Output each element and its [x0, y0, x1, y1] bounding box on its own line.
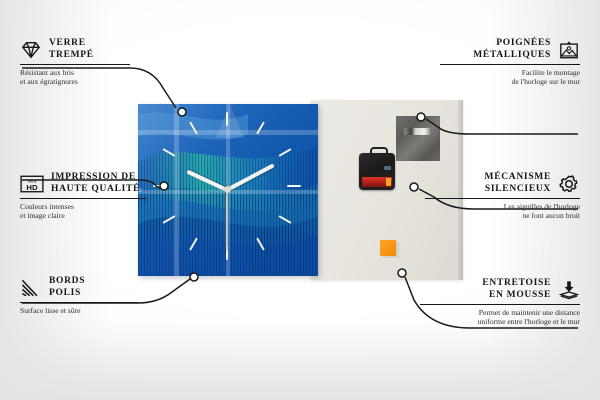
callout-rule	[20, 198, 146, 199]
callout-title-line1: POIGNÉES	[473, 38, 551, 50]
callout-subtitle-line1: Surface lisse et sûre	[20, 306, 150, 316]
callout-header: ultra HD IMPRESSION DE HAUTE QUALITÉ	[20, 172, 160, 195]
callout-title-line2: EN MOUSSE	[482, 290, 551, 302]
mechanism-label	[384, 166, 391, 170]
battery	[362, 177, 392, 187]
quartz-mechanism	[359, 153, 395, 190]
callout-entretoise-en-mousse: ENTRETOISE EN MOUSSE Permet de maintenir…	[420, 278, 580, 327]
callout-title-line1: MÉCANISME	[485, 172, 551, 184]
callout-header: ENTRETOISE EN MOUSSE	[420, 278, 580, 301]
callout-subtitle-line2: de l'horloge sur le mur	[440, 77, 580, 87]
callout-title-line1: BORDS	[49, 276, 85, 288]
callout-subtitle-line2: et image claire	[20, 211, 160, 221]
callout-title-line1: ENTRETOISE	[482, 278, 551, 290]
callout-rule	[425, 198, 580, 199]
callout-subtitle-line2: uniforme entre l'horloge et le mur	[420, 317, 580, 327]
gear-icon	[558, 174, 580, 194]
second-hand	[226, 190, 228, 252]
callout-title-line2: SILENCIEUX	[485, 184, 551, 196]
clock-hands-hub	[224, 186, 231, 193]
callout-subtitle-line2: et aux égratignures	[20, 77, 150, 87]
callout-header: VERRE TREMPÉ	[20, 38, 150, 61]
callout-impression-haute-qualite: ultra HD IMPRESSION DE HAUTE QUALITÉ Cou…	[20, 172, 160, 221]
callout-header: BORDS POLIS	[20, 276, 150, 299]
infographic-canvas: VERRE TREMPÉ Résistant aux bris et aux é…	[0, 0, 600, 400]
callout-subtitle-line1: Permet de maintenir une distance	[420, 308, 580, 318]
callout-subtitle-line1: Les aiguilles de l'horloge	[425, 202, 580, 212]
bottom-vignette	[0, 320, 600, 400]
diamond-icon	[20, 40, 42, 60]
callout-title-line2: TREMPÉ	[49, 50, 94, 62]
callout-title-line1: VERRE	[49, 38, 94, 50]
polished-edges-icon	[20, 278, 42, 298]
mechanism-hanging-loop	[370, 147, 388, 158]
svg-text:HD: HD	[26, 182, 38, 191]
callout-subtitle-line1: Couleurs intenses	[20, 202, 160, 212]
glass-clock-face	[138, 104, 318, 276]
foam-spacer	[380, 240, 396, 256]
callout-mecanisme-silencieux: MÉCANISME SILENCIEUX Les aiguilles de l'…	[425, 172, 580, 221]
callout-subtitle-line1: Facilite le montage	[440, 68, 580, 78]
ultra-hd-icon: ultra HD	[20, 174, 44, 194]
metal-hanger-plate	[396, 116, 440, 161]
callout-bords-polis: BORDS POLIS Surface lisse et sûre	[20, 276, 150, 315]
callout-header: POIGNÉES MÉTALLIQUES	[440, 38, 580, 61]
callout-title-line1: IMPRESSION DE	[51, 172, 140, 184]
hour-tick	[287, 185, 301, 187]
hour-tick	[226, 112, 228, 126]
callout-subtitle-line1: Résistant aux bris	[20, 68, 150, 78]
callout-rule	[20, 64, 130, 65]
hanger-slot	[404, 128, 430, 135]
callout-rule	[420, 304, 580, 305]
foam-spacer-icon	[558, 280, 580, 300]
glass-seam-horizontal	[138, 130, 318, 135]
callout-title-line2: MÉTALLIQUES	[473, 50, 551, 62]
callout-title-line2: HAUTE QUALITÉ	[51, 184, 140, 196]
callout-title-line2: POLIS	[49, 288, 85, 300]
framed-picture-icon	[558, 40, 580, 60]
callout-rule	[440, 64, 580, 65]
callout-header: MÉCANISME SILENCIEUX	[425, 172, 580, 195]
callout-rule	[20, 302, 138, 303]
callout-poignees-metalliques: POIGNÉES MÉTALLIQUES Facilite le montage…	[440, 38, 580, 87]
callout-verre-trempe: VERRE TREMPÉ Résistant aux bris et aux é…	[20, 38, 150, 87]
callout-subtitle-line2: ne font aucun bruit	[425, 211, 580, 221]
product-photo	[138, 100, 463, 280]
